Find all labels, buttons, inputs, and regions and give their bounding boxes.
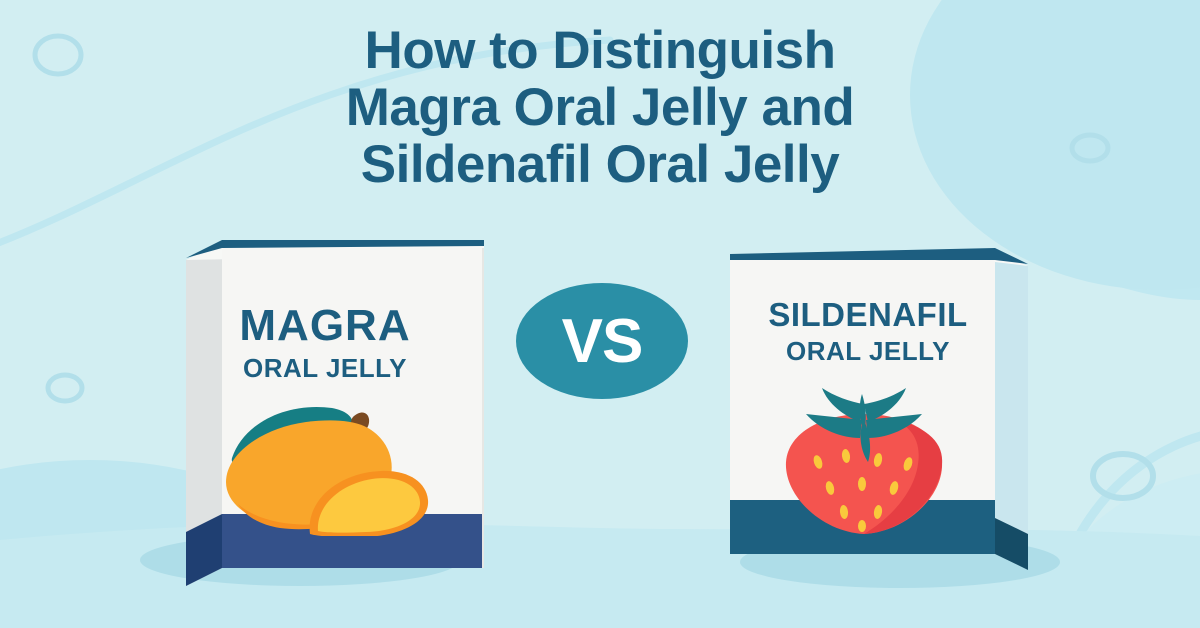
box-base-front: [730, 500, 995, 554]
title-line-3: Sildenafil Oral Jelly: [0, 136, 1200, 193]
vs-badge: VS: [516, 283, 688, 399]
poster-canvas: How to Distinguish Magra Oral Jelly and …: [0, 0, 1200, 628]
box-base-front: [222, 514, 484, 568]
box-right-edge: [482, 248, 484, 568]
vs-label: VS: [516, 283, 688, 399]
page-title: How to Distinguish Magra Oral Jelly and …: [0, 22, 1200, 193]
product-card-magra[interactable]: MAGRA ORAL JELLY: [172, 236, 490, 586]
product-box-magra: [172, 236, 490, 586]
product-card-sildenafil[interactable]: SILDENAFIL ORAL JELLY: [712, 236, 1034, 588]
title-line-1: How to Distinguish: [0, 22, 1200, 79]
product-box-sildenafil: [712, 236, 1034, 588]
title-line-2: Magra Oral Jelly and: [0, 79, 1200, 136]
